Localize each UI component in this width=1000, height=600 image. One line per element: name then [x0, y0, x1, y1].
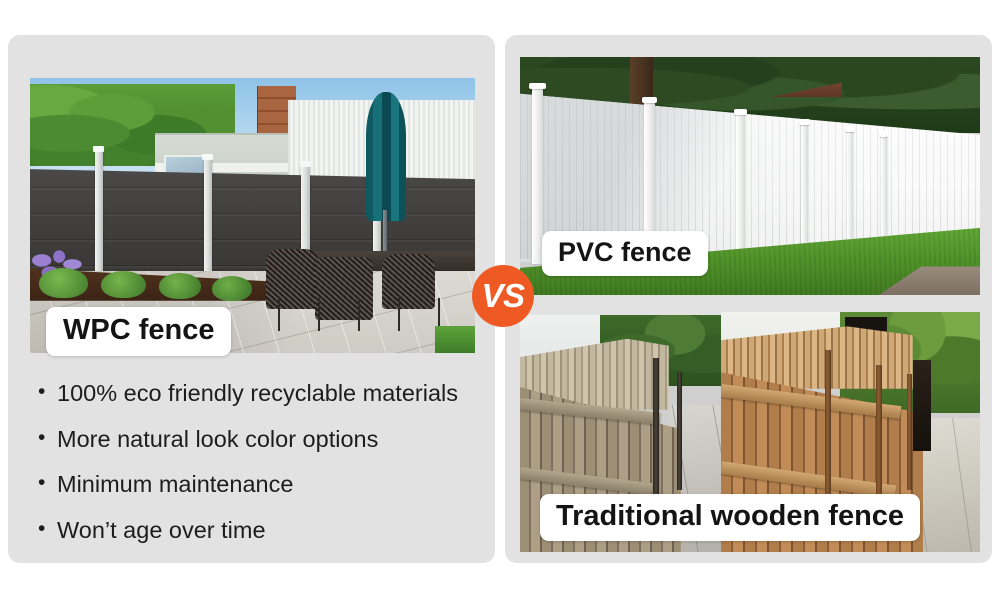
pvc-fence-caption: PVC fence — [542, 231, 708, 276]
shrub — [212, 276, 252, 301]
fence-post — [677, 372, 682, 491]
feature-item: More natural look color options — [38, 428, 478, 452]
wpc-feature-list: 100% eco friendly recyclable materials M… — [38, 382, 478, 564]
dark-gate — [913, 360, 931, 451]
wpc-fence-caption: WPC fence — [46, 307, 231, 356]
fence-post — [801, 124, 809, 255]
fence-post — [907, 374, 912, 489]
feature-item: Won’t age over time — [38, 519, 478, 543]
vs-badge: VS — [472, 265, 534, 327]
shrub — [159, 273, 201, 299]
fence-post — [653, 358, 659, 514]
wooden-fence-caption: Traditional wooden fence — [540, 494, 920, 541]
fence-post — [881, 136, 887, 245]
furniture-legs — [266, 298, 462, 331]
feature-item: Minimum maintenance — [38, 473, 478, 497]
patio-umbrella — [366, 92, 406, 221]
vs-badge-label: VS — [481, 279, 524, 312]
feature-item: 100% eco friendly recyclable materials — [38, 382, 478, 406]
shrub — [39, 268, 88, 298]
comparison-infographic: WPC fence 100% eco friendly recyclable m… — [0, 0, 1000, 600]
fence-post — [847, 131, 854, 250]
fence-post — [876, 365, 882, 504]
fence-post — [736, 114, 745, 259]
shrub — [101, 271, 146, 299]
lawn-corner — [435, 326, 475, 354]
right-comparison-panel: PVC fence — [505, 35, 992, 563]
left-comparison-panel: WPC fence 100% eco friendly recyclable m… — [8, 35, 495, 563]
